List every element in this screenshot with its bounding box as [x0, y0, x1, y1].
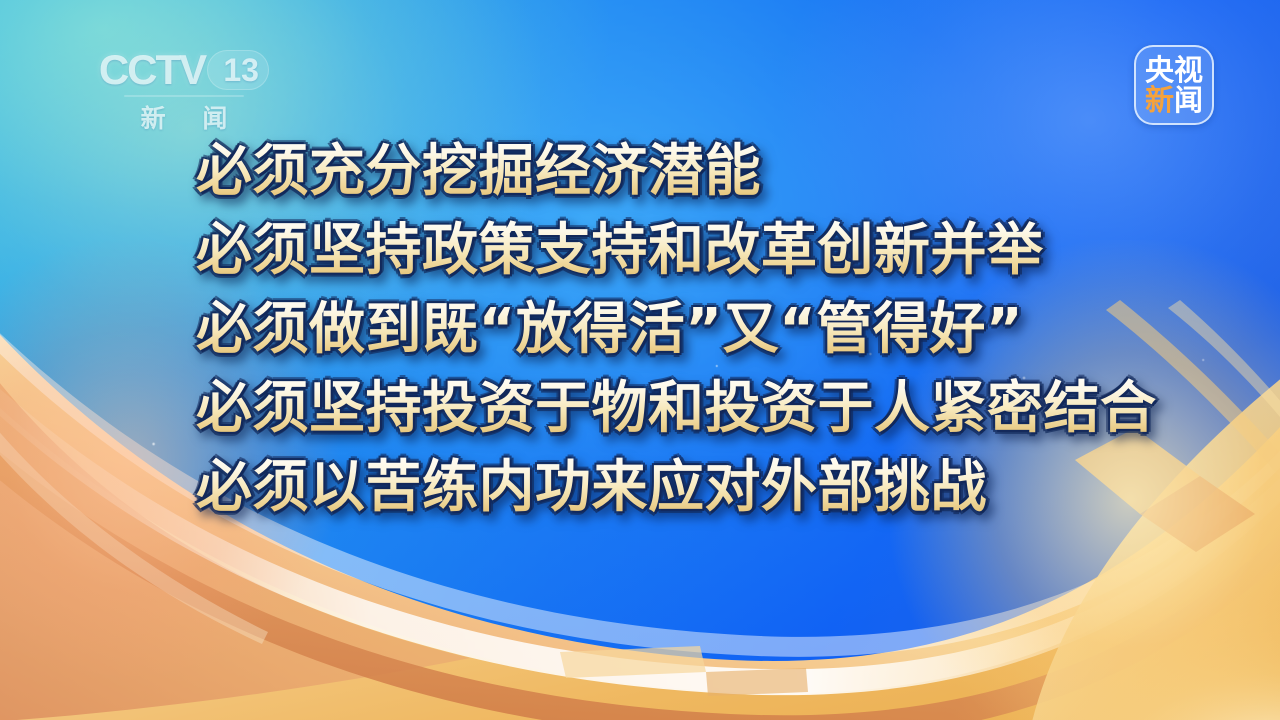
- cctv-channel-name: 新 闻: [84, 99, 284, 135]
- headline-list: 必须充分挖掘经济潜能 必须坚持政策支持和改革创新并举 必须做到既“放得活”又“管…: [196, 132, 1256, 527]
- news-badge-row-top: 央 视: [1145, 56, 1203, 85]
- cctv-logo-underline: [124, 95, 244, 97]
- headline-line-5: 必须以苦练内功来应对外部挑战: [196, 448, 1256, 527]
- headline-line-4: 必须坚持投资于物和投资于人紧密结合: [196, 369, 1256, 448]
- cctv-news-app-icon: 央 视 新 闻: [1134, 45, 1214, 125]
- cctv-channel-number: 13: [223, 52, 259, 89]
- cctv-channel-pill: 13: [207, 50, 269, 90]
- news-badge-char-yang: 央: [1145, 56, 1174, 85]
- news-badge-char-wen: 闻: [1174, 86, 1203, 115]
- headline-line-3: 必须做到既“放得活”又“管得好”: [196, 290, 1256, 369]
- headline-line-2: 必须坚持政策支持和改革创新并举: [196, 211, 1256, 290]
- headline-line-1: 必须充分挖掘经济潜能: [196, 132, 1256, 211]
- broadcast-frame: CCTV 13 新 闻 央 视 新 闻 必须充分挖掘经济潜能 必须坚持政策支持和…: [0, 0, 1280, 720]
- news-badge-char-shi: 视: [1174, 56, 1203, 85]
- news-badge-char-xin: 新: [1145, 86, 1174, 115]
- cctv-logo-row: CCTV 13: [84, 46, 284, 94]
- cctv-network-label: CCTV: [99, 46, 205, 94]
- cctv-logo-icon: CCTV 13 新 闻: [84, 46, 284, 135]
- news-badge-row-bottom: 新 闻: [1145, 86, 1203, 115]
